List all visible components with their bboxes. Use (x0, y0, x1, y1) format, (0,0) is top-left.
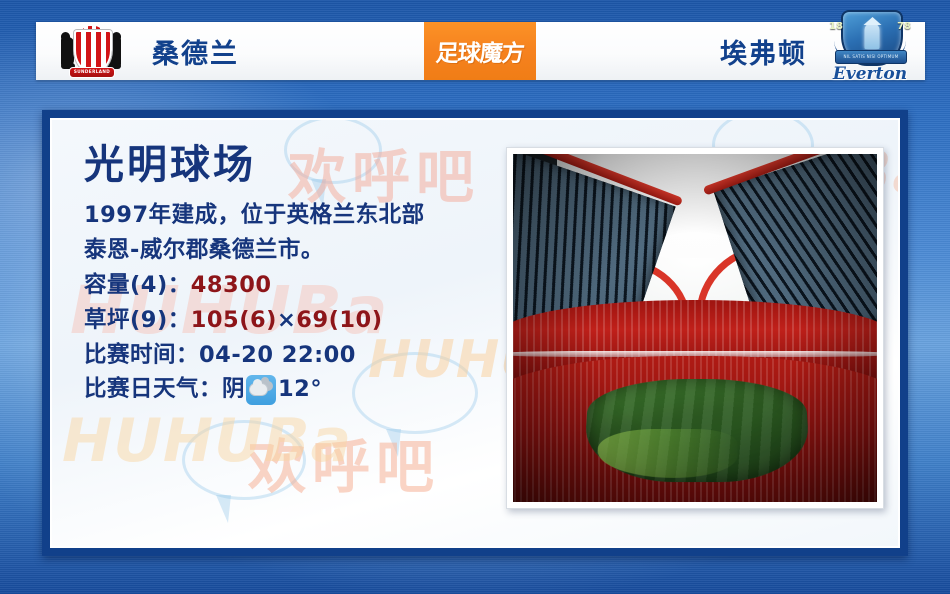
everton-crest-icon: 18 78 NIL SATIS NISI OPTIMUM Everton (828, 8, 912, 94)
stadium-description-line-2: 泰恩-威尔郡桑德兰市。 (84, 233, 504, 268)
stadium-photo-frame[interactable] (506, 147, 884, 509)
watermark-brand-cn-2: 欢呼吧 (248, 420, 440, 504)
stadium-title: 光明球场 (84, 144, 504, 186)
crest-motto-scroll: SUNDERLAND A.F.C. (69, 67, 115, 78)
site-logo-text: 足球魔方 (434, 34, 524, 68)
sunderland-crest-icon: SUNDERLAND A.F.C. (60, 24, 122, 78)
weather-condition: 阴 (222, 372, 245, 407)
home-team-name: 桑德兰 (152, 32, 239, 71)
stadium-description-line-1: 1997年建成，位于英格兰东北部 (84, 198, 504, 233)
match-time-label: 比赛时间： (84, 342, 199, 368)
cloudy-icon (246, 375, 276, 405)
lion-left-icon (61, 37, 74, 67)
pitch-label: 草坪(9)： (84, 307, 191, 333)
away-crest-slot[interactable]: 18 78 NIL SATIS NISI OPTIMUM Everton (815, 22, 925, 80)
crest-year-left: 18 (829, 21, 843, 32)
crest-year-right: 78 (897, 21, 911, 32)
stadium-info-block: 光明球场 1997年建成，位于英格兰东北部 泰恩-威尔郡桑德兰市。 容量(4)：… (84, 144, 504, 407)
weather-row: 比赛日天气：阴 12° (84, 372, 504, 407)
watermark-bubble-4 (182, 420, 306, 500)
site-logo[interactable]: 足球魔方 (424, 22, 536, 80)
match-time-row: 比赛时间：04-20 22:00 (84, 338, 504, 373)
weather-temperature: 12° (278, 372, 322, 407)
watermark-brand-latin-2: HUHUBa (62, 406, 352, 476)
cloud-front (250, 384, 267, 395)
home-crest-slot[interactable]: SUNDERLAND A.F.C. (36, 22, 146, 80)
photo-vignette (513, 154, 877, 502)
capacity-label: 容量(4)： (84, 272, 191, 298)
crest-shield (74, 30, 112, 72)
match-header-bar: SUNDERLAND A.F.C. 桑德兰 足球魔方 埃弗顿 18 78 NIL… (36, 22, 925, 80)
pitch-separator: × (277, 307, 296, 333)
capacity-row: 容量(4)：48300 (84, 268, 504, 303)
crest-wordmark: Everton (828, 64, 912, 84)
match-stadium-card-page: SUNDERLAND A.F.C. 桑德兰 足球魔方 埃弗顿 18 78 NIL… (0, 0, 950, 594)
stadium-photo (513, 154, 877, 502)
stadium-info-card-inner: 欢呼吧 欢呼吧 HUHUBa HUHUBa HUHUBa HUHUBa 光明球场… (50, 118, 900, 548)
weather-label: 比赛日天气： (84, 372, 222, 407)
crest-motto-banner: NIL SATIS NISI OPTIMUM (835, 50, 907, 64)
pitch-row: 草坪(9)：105(6)×69(10) (84, 303, 504, 338)
capacity-value: 48300 (191, 272, 272, 298)
away-team-name: 埃弗顿 (720, 32, 807, 71)
pitch-width: 69(10) (296, 307, 382, 333)
stadium-info-card: 欢呼吧 欢呼吧 HUHUBa HUHUBa HUHUBa HUHUBa 光明球场… (42, 110, 908, 556)
match-time-value: 04-20 22:00 (199, 342, 356, 368)
pitch-length: 105(6) (191, 307, 277, 333)
